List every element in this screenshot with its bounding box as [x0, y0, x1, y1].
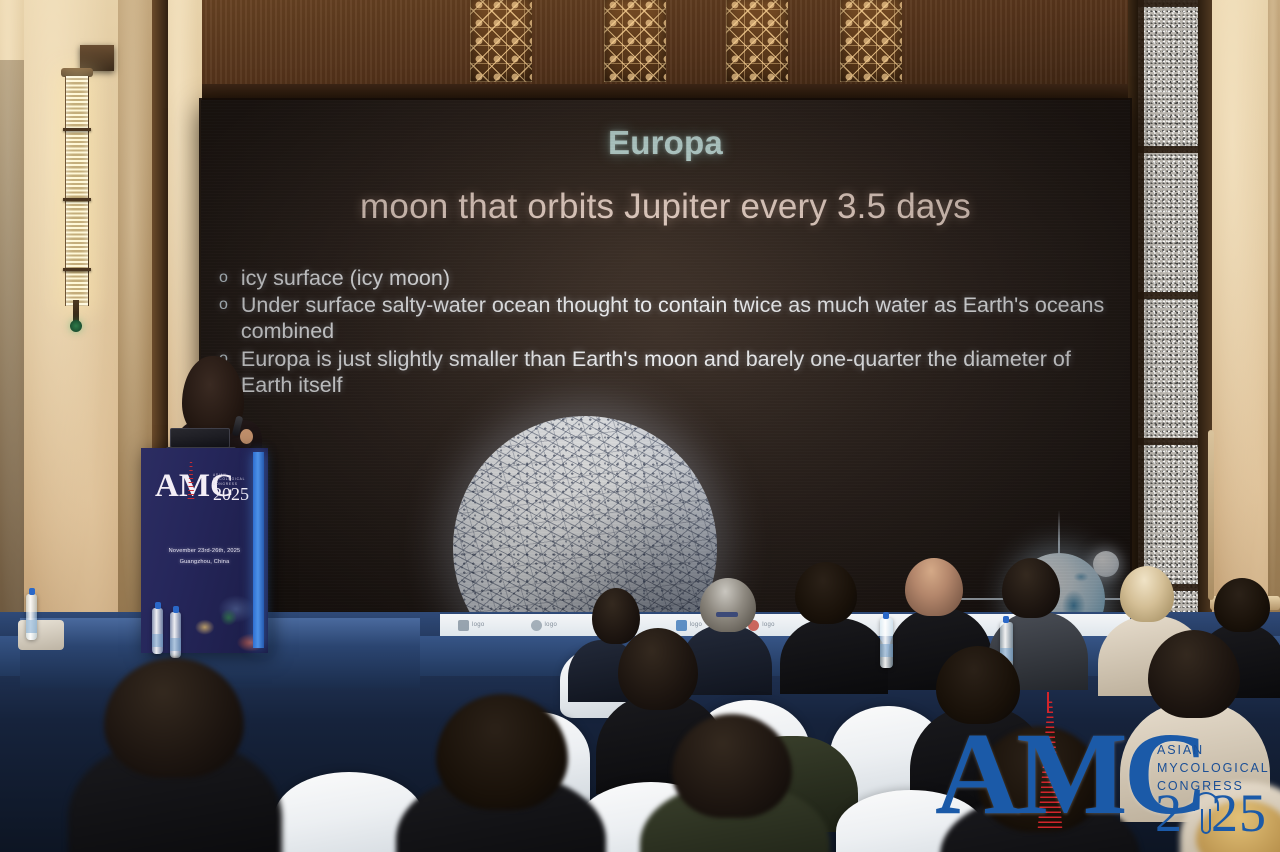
slide-subtitle: moon that orbits Jupiter every 3.5 days: [201, 187, 1130, 227]
mushroom-icon: [1193, 792, 1219, 834]
watermark-year-prefix: 2: [1155, 783, 1183, 843]
mushroom-stem: [1201, 809, 1211, 834]
left-wall-recess: [0, 60, 26, 620]
europa-surface-speckle: [453, 416, 717, 616]
podium-logo-year: 2025: [213, 484, 249, 505]
podium-blue-edge-light: [253, 452, 264, 648]
watermark-subtitle-line: MYCOLOGICAL: [1157, 760, 1270, 778]
podium-location-line: Guangzhou, China: [141, 557, 268, 568]
attendee-head: [700, 578, 756, 632]
water-bottle: [170, 612, 181, 658]
podium-amc-logo: AMC 2025 ASIAN MYCOLOGICAL CONGRESS: [155, 472, 255, 502]
attendee-lanyard: [716, 612, 738, 617]
slide-bullet-item: o Europa is just slightly smaller than E…: [219, 346, 1111, 398]
water-bottle: [152, 608, 163, 654]
bullet-text: icy surface (icy moon): [241, 265, 1111, 291]
attendee-head: [1002, 558, 1060, 618]
podium-date-line: November 23rd-26th, 2025: [141, 546, 268, 557]
bullet-marker-icon: o: [219, 292, 228, 344]
lattice-panel-4: [840, 0, 902, 82]
attendee-head: [905, 558, 963, 616]
europa-sphere-image: [453, 416, 717, 616]
sponsor-logo-item: logo: [676, 620, 703, 631]
attendee-head: [1214, 578, 1270, 632]
slide-bullet-list: o icy surface (icy moon) o Under surface…: [219, 265, 1111, 399]
presentation-photo: Europa moon that orbits Jupiter every 3.…: [0, 0, 1280, 852]
sponsor-mark: [531, 620, 542, 631]
sconce-band-3: [63, 268, 91, 271]
sponsor-label: logo: [762, 622, 775, 628]
lattice-panel-1: [470, 0, 532, 82]
sponsor-logo-item: logo: [531, 620, 558, 631]
side-table: [18, 620, 64, 650]
earth-moon-sphere: [1093, 551, 1119, 577]
bullet-marker-icon: o: [219, 265, 228, 291]
sponsor-label: logo: [472, 622, 485, 628]
sponsor-mark: [676, 620, 687, 631]
water-bottle: [26, 594, 37, 640]
sconce-tube: [65, 76, 89, 306]
attendee-head: [618, 628, 698, 710]
sconce-band-2: [63, 198, 91, 201]
attendee-head: [592, 588, 640, 644]
lattice-panel-3: [726, 0, 788, 82]
sconce-jewel: [70, 320, 82, 332]
slide-bullet-item: o icy surface (icy moon): [219, 265, 1111, 291]
sponsor-label: logo: [690, 622, 703, 628]
slide-title: Europa: [201, 124, 1130, 162]
right-marble-edge: [1268, 0, 1280, 700]
attendee-shoulders: [780, 618, 888, 694]
laptop-screen: [170, 428, 230, 448]
lattice-panel-2: [604, 0, 666, 82]
sconce-band-1: [63, 128, 91, 131]
water-bottle: [880, 618, 893, 668]
watermark-subtitle-line: ASIAN: [1157, 742, 1270, 760]
slide-bullet-item: o Under surface salty-water ocean though…: [219, 292, 1111, 344]
bullet-text: Europa is just slightly smaller than Ear…: [241, 346, 1111, 398]
watermark-year-suffix: 25: [1211, 783, 1267, 843]
bullet-text: Under surface salty-water ocean thought …: [241, 292, 1111, 344]
right-granite-mullions: [1138, 0, 1204, 640]
speaker-hand: [240, 429, 253, 444]
podium-logo-subtitle: ASIAN MYCOLOGICAL CONGRESS: [213, 473, 257, 486]
attendee-head: [795, 562, 857, 624]
podium-event-details: November 23rd-26th, 2025 Guangzhou, Chin…: [141, 546, 268, 567]
amc-watermark-logo: AMC ASIAN MYCOLOGICAL CONGRESS 2025: [935, 700, 1275, 846]
attendee-head: [1120, 566, 1174, 622]
projection-screen: Europa moon that orbits Jupiter every 3.…: [201, 100, 1130, 616]
sponsor-mark: [458, 620, 469, 631]
sponsor-logo-item: logo: [458, 620, 485, 631]
sponsor-label: logo: [545, 622, 558, 628]
right-column-reed: [1208, 430, 1214, 600]
